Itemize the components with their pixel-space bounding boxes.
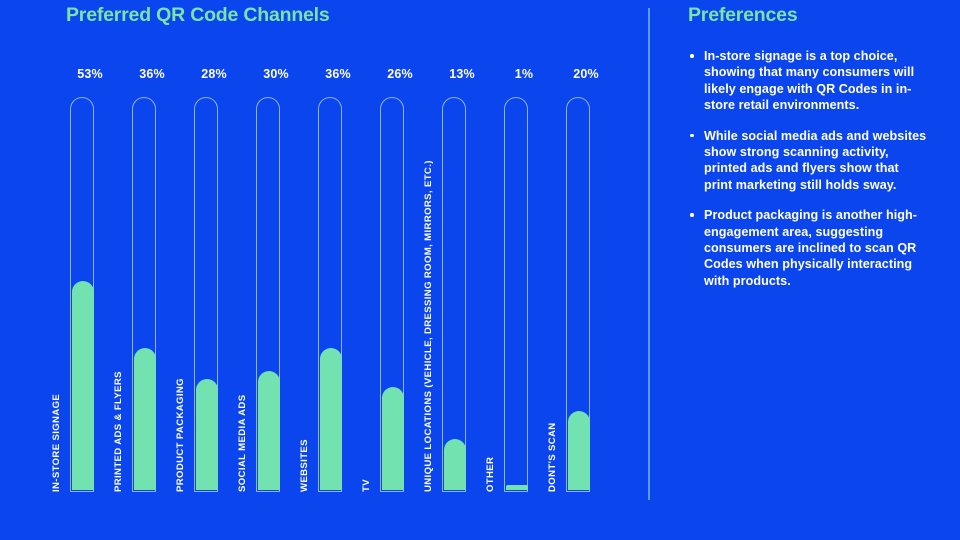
bar-value-label: 36% [132,67,172,81]
bar-category-label: WEBSITES [299,439,310,492]
bar-fill [320,348,342,490]
bar-fill [72,281,94,490]
bar-track [132,97,156,492]
bar-value-label: 13% [442,67,482,81]
bar-track [504,97,528,492]
bar-track [194,97,218,492]
bar-fill [568,411,590,490]
bar-track [70,97,94,492]
bar-value-label: 26% [380,67,420,81]
bar-value-label: 20% [566,67,606,81]
bar-track [380,97,404,492]
bar-track [442,97,466,492]
bullet-dot-icon [690,134,694,138]
bar-value-label: 28% [194,67,234,81]
bar-track [256,97,280,492]
bar-fill [506,485,528,490]
bar-track [566,97,590,492]
list-item-text: While social media ads and websites show… [704,129,926,192]
bar-chart: 53% IN-STORE SIGNAGE 36% PRINTED ADS & F… [0,0,648,540]
bar-fill [196,379,218,490]
panel-divider [648,8,650,500]
bar-category-label: SOCIAL MEDIA ADS [237,395,248,492]
bar-category-label: PRINTED ADS & FLYERS [113,371,124,492]
bar-category-label: OTHER [485,457,496,492]
bar-fill [444,439,466,490]
list-item: Product packaging is another high-engage… [688,207,928,289]
bar-value-label: 30% [256,67,296,81]
list-item: While social media ads and websites show… [688,128,928,194]
list-item-text: In-store signage is a top choice, showin… [704,49,914,112]
bar-category-label: TV [361,479,372,492]
preferences-panel: Preferences In-store signage is a top ch… [688,0,938,540]
bar-fill [382,387,404,490]
bar-value-label: 36% [318,67,358,81]
bullet-dot-icon [690,54,694,58]
preferences-title: Preferences [688,4,797,27]
bar-category-label: UNIQUE LOCATIONS (VEHICLE, DRESSING ROOM… [423,160,434,492]
list-item: In-store signage is a top choice, showin… [688,48,928,114]
slide-root: Preferred QR Code Channels 53% IN-STORE … [0,0,960,540]
bar-category-label: DONT'S SCAN [547,422,558,492]
bar-category-label: IN-STORE SIGNAGE [51,394,62,492]
bar-fill [134,348,156,490]
bar-fill [258,371,280,490]
bar-track [318,97,342,492]
preferences-list: In-store signage is a top choice, showin… [688,48,928,303]
bar-value-label: 53% [70,67,110,81]
bar-value-label: 1% [504,67,544,81]
bullet-dot-icon [690,213,694,217]
bar-category-label: PRODUCT PACKAGING [175,378,186,492]
list-item-text: Product packaging is another high-engage… [704,208,917,288]
chart-panel: Preferred QR Code Channels 53% IN-STORE … [0,0,648,540]
